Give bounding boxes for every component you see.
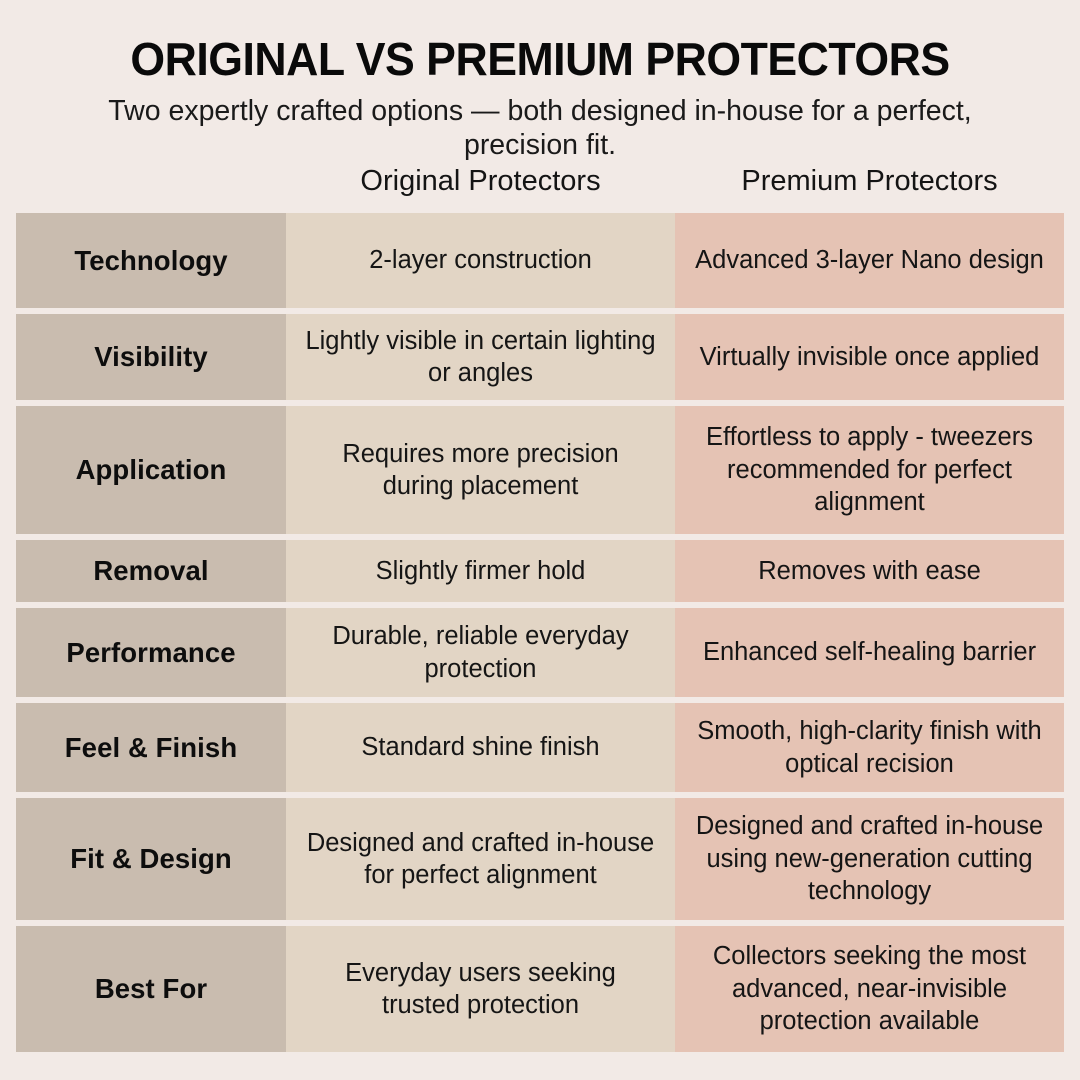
- cell-original: Standard shine finish: [286, 703, 675, 792]
- column-header-premium: Premium Protectors: [675, 166, 1064, 198]
- cell-premium: Smooth, high-clarity finish with optical…: [675, 703, 1064, 792]
- cell-premium: Collectors seeking the most advanced, ne…: [675, 926, 1064, 1052]
- table-row: Application Requires more precision duri…: [16, 406, 1064, 534]
- cell-premium: Effortless to apply - tweezers recommend…: [675, 406, 1064, 534]
- cell-premium: Removes with ease: [675, 540, 1064, 602]
- cell-original: Lightly visible in certain lighting or a…: [286, 314, 675, 400]
- column-headers: Original Protectors Premium Protectors: [286, 166, 1064, 198]
- row-label: Technology: [16, 213, 286, 308]
- comparison-table: Technology 2-layer construction Advanced…: [16, 213, 1064, 1052]
- cell-original: Requires more precision during placement: [286, 406, 675, 534]
- cell-premium: Enhanced self-healing barrier: [675, 608, 1064, 697]
- cell-original: Durable, reliable everyday protection: [286, 608, 675, 697]
- table-row: Performance Durable, reliable everyday p…: [16, 608, 1064, 697]
- row-label: Performance: [16, 608, 286, 697]
- row-label: Best For: [16, 926, 286, 1052]
- cell-original: 2-layer construction: [286, 213, 675, 308]
- row-label: Removal: [16, 540, 286, 602]
- page-subtitle: Two expertly crafted options — both desi…: [60, 82, 1020, 163]
- page-title: ORIGINAL VS PREMIUM PROTECTORS: [41, 0, 1038, 82]
- column-header-original: Original Protectors: [286, 166, 675, 198]
- row-label: Visibility: [16, 314, 286, 400]
- cell-original: Designed and crafted in-house for perfec…: [286, 798, 675, 920]
- cell-premium: Virtually invisible once applied: [675, 314, 1064, 400]
- table-row: Fit & Design Designed and crafted in-hou…: [16, 798, 1064, 920]
- table-row: Best For Everyday users seeking trusted …: [16, 926, 1064, 1052]
- comparison-infographic: ORIGINAL VS PREMIUM PROTECTORS Two exper…: [0, 0, 1080, 1080]
- header: ORIGINAL VS PREMIUM PROTECTORS Two exper…: [0, 0, 1080, 163]
- cell-premium: Designed and crafted in-house using new-…: [675, 798, 1064, 920]
- table-row: Technology 2-layer construction Advanced…: [16, 213, 1064, 308]
- cell-original: Everyday users seeking trusted protectio…: [286, 926, 675, 1052]
- cell-premium: Advanced 3-layer Nano design: [675, 213, 1064, 308]
- row-label: Feel & Finish: [16, 703, 286, 792]
- table-row: Visibility Lightly visible in certain li…: [16, 314, 1064, 400]
- table-row: Removal Slightly firmer hold Removes wit…: [16, 540, 1064, 602]
- row-label: Application: [16, 406, 286, 534]
- row-label: Fit & Design: [16, 798, 286, 920]
- cell-original: Slightly firmer hold: [286, 540, 675, 602]
- table-row: Feel & Finish Standard shine finish Smoo…: [16, 703, 1064, 792]
